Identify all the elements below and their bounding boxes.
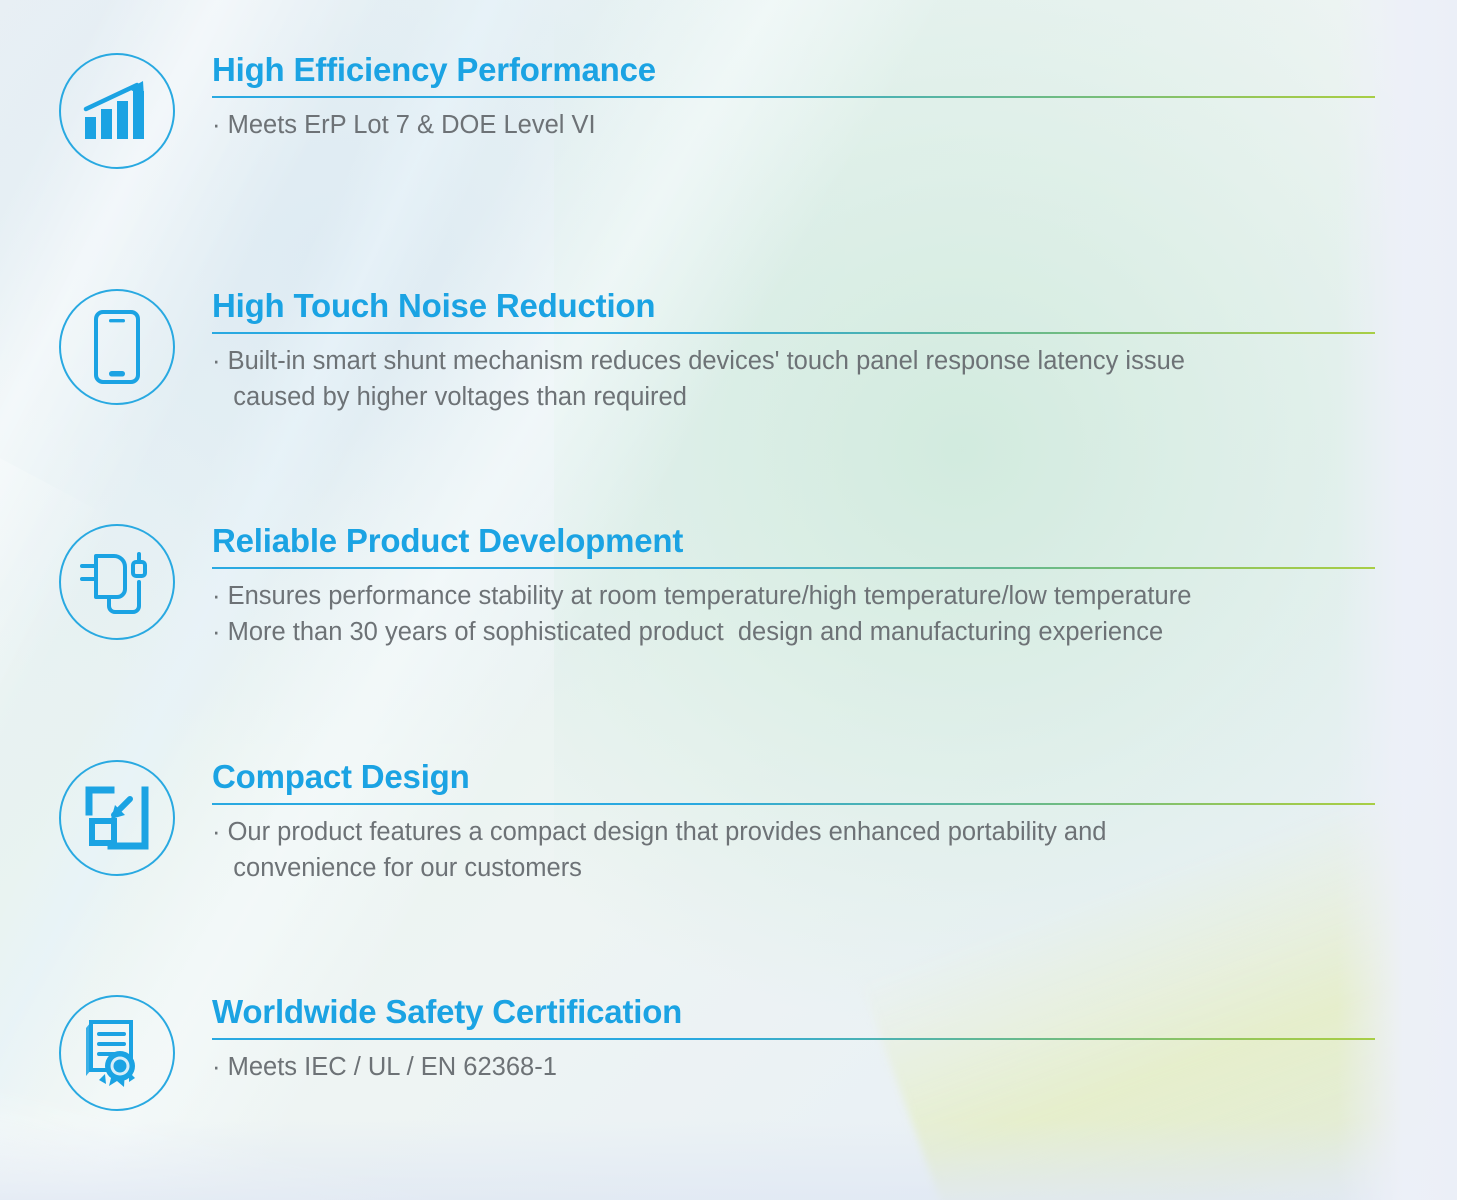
background-bottom-fade	[0, 1120, 1457, 1200]
feature-text-block: Worldwide Safety Certification · Meets I…	[212, 994, 1375, 1086]
bullet-mark: ·	[212, 818, 221, 846]
feature-bullet-text: Our product features a compact design th…	[212, 818, 1106, 881]
feature-icon-wrap	[58, 52, 176, 170]
certificate-award-icon	[59, 995, 175, 1111]
feature-divider	[212, 1038, 1375, 1040]
bar-chart-growth-icon	[59, 53, 175, 169]
feature-icon-wrap	[58, 288, 176, 406]
bullet-mark: ·	[212, 582, 221, 610]
feature-bullet-line: · Built-in smart shunt mechanism reduces…	[212, 344, 1375, 415]
feature-bullet-line: · Meets IEC / UL / EN 62368-1	[212, 1050, 1375, 1085]
feature-icon-wrap	[58, 523, 176, 641]
feature-bullet-line: · Our product features a compact design …	[212, 815, 1375, 886]
feature-icon-wrap	[58, 994, 176, 1112]
feature-title: Worldwide Safety Certification	[212, 994, 1375, 1030]
feature-divider	[212, 332, 1375, 334]
bullet-mark: ·	[212, 618, 221, 646]
feature-bullet-text: Built-in smart shunt mechanism reduces d…	[212, 347, 1185, 410]
feature-bullet-text: Ensures performance stability at room te…	[228, 582, 1192, 610]
feature-divider	[212, 96, 1375, 98]
feature-bullet-text: Meets IEC / UL / EN 62368-1	[228, 1053, 557, 1081]
feature-divider	[212, 567, 1375, 569]
feature-divider	[212, 803, 1375, 805]
smartphone-icon	[59, 289, 175, 405]
feature-text-block: High Touch Noise Reduction · Built-in sm…	[212, 288, 1375, 415]
power-adapter-icon	[59, 524, 175, 640]
feature-bullet-text: Meets ErP Lot 7 & DOE Level VI	[228, 111, 596, 139]
feature-text-block: Compact Design · Our product features a …	[212, 759, 1375, 886]
feature-icon-wrap	[58, 759, 176, 877]
feature-title: High Efficiency Performance	[212, 52, 1375, 88]
feature-title: High Touch Noise Reduction	[212, 288, 1375, 324]
feature-bullet-list: · Our product features a compact design …	[212, 815, 1375, 886]
feature-highlights-page: High Efficiency Performance · Meets ErP …	[0, 0, 1457, 1200]
bullet-mark: ·	[212, 347, 221, 375]
feature-title: Reliable Product Development	[212, 523, 1375, 559]
bullet-mark: ·	[212, 111, 221, 139]
compact-resize-icon	[59, 760, 175, 876]
feature-bullet-line: · Meets ErP Lot 7 & DOE Level VI	[212, 108, 1375, 143]
feature-text-block: Reliable Product Development · Ensures p…	[212, 523, 1375, 650]
feature-bullet-line: · More than 30 years of sophisticated pr…	[212, 615, 1375, 650]
feature-bullet-line: · Ensures performance stability at room …	[212, 579, 1375, 614]
feature-bullet-list: · Ensures performance stability at room …	[212, 579, 1375, 650]
background-green-swoosh	[860, 672, 1457, 1200]
feature-title: Compact Design	[212, 759, 1375, 795]
feature-bullet-text: More than 30 years of sophisticated prod…	[228, 618, 1164, 646]
feature-bullet-list: · Meets ErP Lot 7 & DOE Level VI	[212, 108, 1375, 143]
feature-bullet-list: · Built-in smart shunt mechanism reduces…	[212, 344, 1375, 415]
feature-bullet-list: · Meets IEC / UL / EN 62368-1	[212, 1050, 1375, 1085]
feature-text-block: High Efficiency Performance · Meets ErP …	[212, 52, 1375, 144]
bullet-mark: ·	[212, 1053, 221, 1081]
